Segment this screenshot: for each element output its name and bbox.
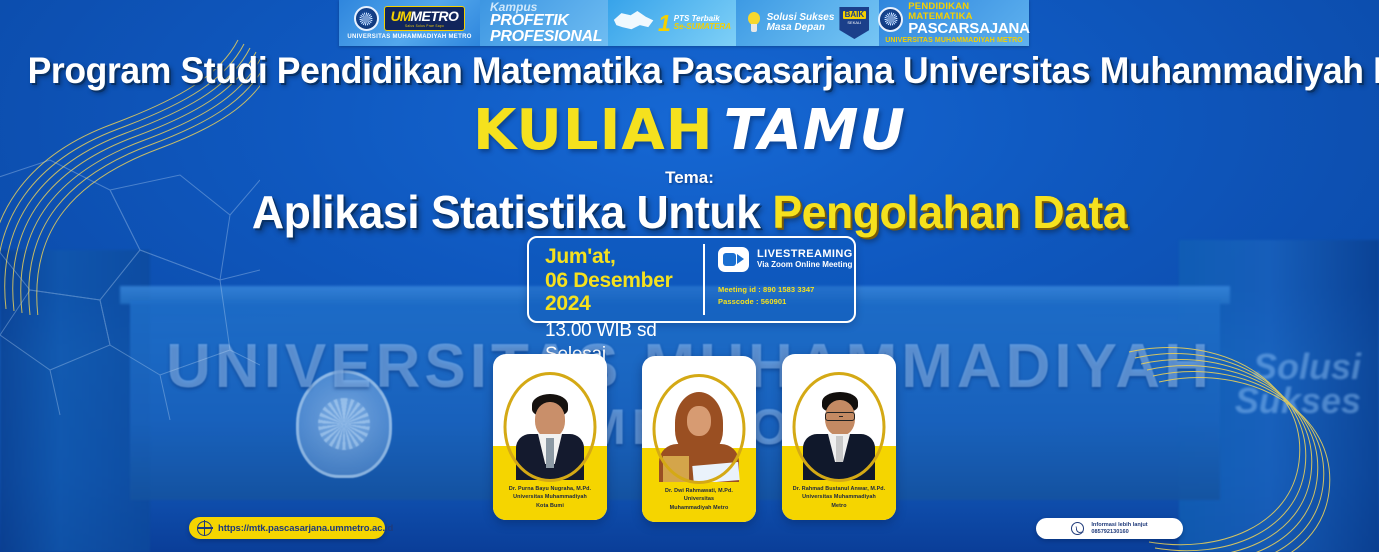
kampus-label: Kampus (490, 1, 537, 13)
speaker-affiliation-2: Kota Bumi (497, 502, 603, 510)
zoom-video-camera-icon (718, 247, 749, 272)
speaker-card: Dr. Rahmad Bustanul Anwar, M.Pd. Univers… (782, 354, 896, 520)
event-info-box: Jum'at, 06 Desember 2024 13.00 WIB sd Se… (527, 236, 856, 323)
accreditation-badge-icon: BAIK SEKALI (839, 7, 869, 39)
speaker-photo-ring (653, 374, 746, 484)
livestream-header: LIVESTREAMING Via Zoom Online Meeting (718, 247, 854, 272)
um-metro-logo-row: UMMETRO Salus Solus Prae Sapo (354, 6, 466, 31)
logo-segment-pts-terbaik: 1 PTS Terbaik Se-SUMATERA (608, 0, 736, 46)
pascasarjana-line-2: PASCARSAJANA (908, 21, 1030, 36)
logo-segment-um-metro: UMMETRO Salus Solus Prae Sapo UNIVERSITA… (339, 0, 480, 46)
pascasarjana-line-1: PENDIDIKAN MATEMATIKA (908, 2, 1030, 22)
speaker-caption: Dr. Dwi Rahmawati, M.Pd. Universitas Muh… (642, 487, 756, 512)
livestream-subtitle: Via Zoom Online Meeting (757, 260, 853, 270)
um-tagline: Salus Solus Prae Sapo (391, 25, 459, 28)
side-text-line-2: Sukses (1235, 384, 1361, 418)
meeting-passcode: Passcode : 560901 (718, 296, 854, 308)
logo-segment-pascasarjana: PENDIDIKAN MATEMATIKA PASCARSAJANA UNIVE… (879, 0, 1029, 46)
um-metro-wordmark: UMMETRO Salus Solus Prae Sapo (384, 6, 466, 30)
speaker-photo-ring (793, 372, 886, 482)
pts-terbaik-text: PTS Terbaik Se-SUMATERA (674, 15, 731, 32)
speaker-affiliation-2: Muhammadiyah Metro (646, 504, 752, 512)
theme-title-white: Aplikasi Statistika Untuk (252, 186, 761, 238)
badge-subtext: SEKALI (847, 21, 861, 25)
side-text-line-1: Solusi (1235, 350, 1361, 384)
contact-label: Informasi lebih lanjut (1091, 522, 1147, 529)
logo-segment-solusi-sukses: Solusi Sukses Masa Depan BAIK SEKALI (736, 0, 879, 46)
livestream-title: LIVESTREAMING (757, 248, 853, 260)
headline-kuliah: KULIAH (473, 98, 714, 163)
pts-rank-number: 1 (658, 12, 671, 35)
speaker-affiliation-1: Universitas Muhammadiyah (497, 493, 603, 501)
website-url-text: https://mtk.pascasarjana.ummetro.ac.id (218, 523, 393, 534)
solusi-sukses-text: Solusi Sukses Masa Depan (767, 13, 835, 34)
pascasarjana-line-3: UNIVERSITAS MUHAMMADIYAH METRO (885, 37, 1023, 44)
theme-title-yellow: Pengolahan Data (772, 186, 1127, 238)
speaker-caption: Dr. Rahmad Bustanul Anwar, M.Pd. Univers… (782, 485, 896, 510)
event-day: Jum'at, (545, 245, 705, 269)
contact-text: Informasi lebih lanjut 085792130160 (1091, 522, 1147, 536)
contact-number: 085792130160 (1091, 529, 1147, 536)
top-logo-strip: UMMETRO Salus Solus Prae Sapo UNIVERSITA… (339, 0, 1029, 46)
pascasarjana-text: PENDIDIKAN MATEMATIKA PASCARSAJANA (908, 2, 1030, 37)
speaker-name: Dr. Dwi Rahmawati, M.Pd. (646, 487, 752, 495)
website-url-pill[interactable]: https://mtk.pascasarjana.ummetro.ac.id (189, 517, 385, 539)
solusi-line-2: Masa Depan (767, 23, 835, 34)
speaker-affiliation-2: Metro (786, 502, 892, 510)
speaker-name: Dr. Rahmad Bustanul Anwar, M.Pd. (786, 485, 892, 493)
theme-title: Aplikasi Statistika Untuk Pengolahan Dat… (21, 185, 1359, 239)
university-seal-icon (354, 6, 379, 31)
background-university-seal (296, 370, 392, 478)
speaker-affiliation-1: Universitas Muhammadiyah (786, 493, 892, 501)
event-date: 06 Desember 2024 (545, 269, 705, 316)
page-title: Program Studi Pendidikan Matematika Pasc… (28, 50, 1352, 92)
pascasarjana-row: PENDIDIKAN MATEMATIKA PASCARSAJANA (878, 2, 1030, 37)
event-schedule: Jum'at, 06 Desember 2024 13.00 WIB sd Se… (529, 238, 705, 321)
speaker-cards: Dr. Purna Bayu Nugraha, M.Pd. Universita… (493, 354, 898, 526)
pts-terbaik-group: 1 PTS Terbaik Se-SUMATERA (613, 10, 731, 36)
speaker-name: Dr. Purna Bayu Nugraha, M.Pd. (497, 485, 603, 493)
speaker-photo-ring (504, 372, 597, 482)
um-text: UM (391, 8, 411, 24)
meeting-id: Meeting id : 890 1583 3347 (718, 284, 854, 296)
background-side-text: Solusi Sukses (1235, 350, 1361, 418)
profesional-label: PROFESIONAL (490, 29, 602, 45)
contact-info-pill[interactable]: Informasi lebih lanjut 085792130160 (1036, 518, 1183, 539)
speaker-card: Dr. Purna Bayu Nugraha, M.Pd. Universita… (493, 354, 607, 520)
um-caption: UNIVERSITAS MUHAMMADIYAH METRO (347, 34, 471, 40)
profetik-label: PROFETIK (490, 13, 569, 29)
meeting-credentials: Meeting id : 890 1583 3347 Passcode : 56… (718, 284, 854, 307)
speaker-card: Dr. Dwi Rahmawati, M.Pd. Universitas Muh… (642, 356, 756, 522)
globe-icon (197, 521, 212, 536)
sumatera-island-icon (613, 10, 655, 36)
headline-tamu: TAMU (724, 98, 906, 163)
speaker-caption: Dr. Purna Bayu Nugraha, M.Pd. Universita… (493, 485, 607, 510)
badge-grade: BAIK (843, 11, 867, 19)
logo-segment-kampus-profetik: Kampus PROFETIK PROFESIONAL (480, 0, 608, 46)
livestream-info: LIVESTREAMING Via Zoom Online Meeting Me… (705, 238, 854, 321)
phone-icon (1071, 522, 1084, 535)
metro-text: METRO (410, 8, 458, 24)
solusi-sukses-group: Solusi Sukses Masa Depan BAIK SEKALI (746, 7, 870, 39)
event-headline: KULIAHTAMU (0, 103, 1379, 159)
pts-line-2: Se-SUMATERA (674, 23, 731, 31)
pascasarjana-seal-icon (878, 7, 903, 32)
lightbulb-icon (746, 12, 762, 34)
livestream-text: LIVESTREAMING Via Zoom Online Meeting (757, 248, 853, 270)
speaker-affiliation-1: Universitas (646, 495, 752, 503)
poster-canvas: UNIVERSITAS MUHAMMADIYAH METRO Solusi Su… (0, 0, 1379, 552)
